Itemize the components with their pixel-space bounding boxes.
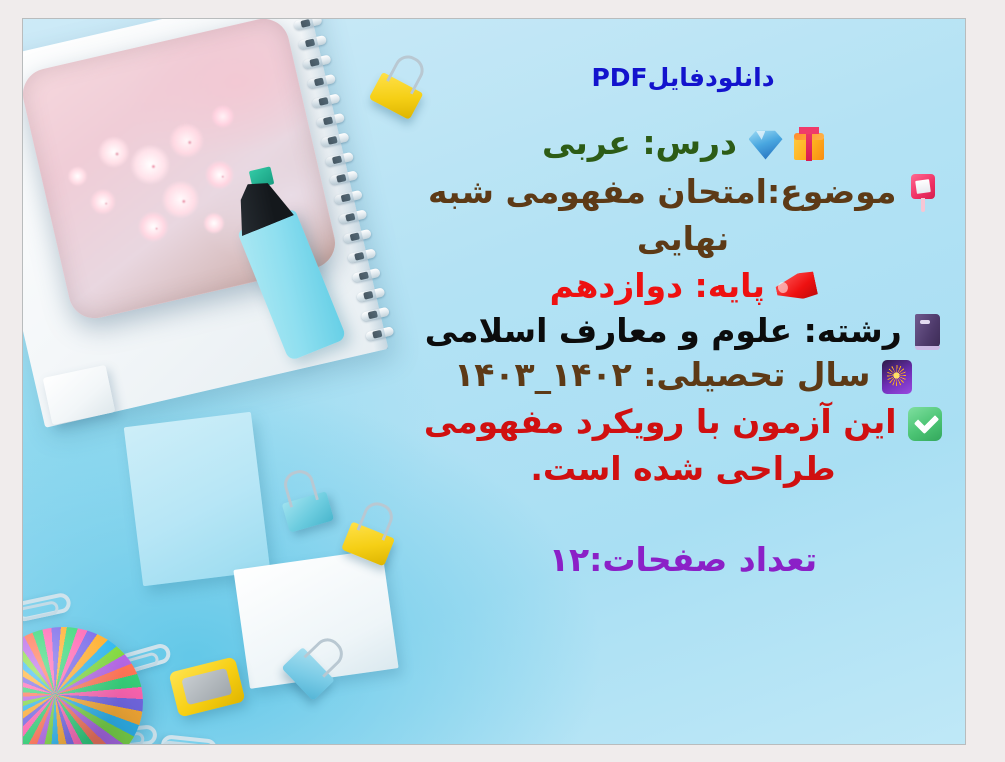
light-blue-paper-square	[124, 412, 271, 586]
slide-canvas: دانلودفایلPDF درس: عربی موضوع:امتحان مفه…	[22, 18, 966, 745]
check-mark-icon	[908, 407, 942, 441]
subject-line-continued: نهایی	[423, 218, 943, 261]
firework-icon	[882, 360, 912, 394]
subject-label-2: نهایی	[637, 219, 729, 258]
field-label: رشته: علوم و معارف اسلامی	[425, 311, 902, 350]
page-root: دانلودفایلPDF درس: عربی موضوع:امتحان مفه…	[0, 0, 1005, 762]
text-column: دانلودفایلPDF درس: عربی موضوع:امتحان مفه…	[423, 63, 943, 584]
note-line: این آزمون با رویکرد مفهومی	[423, 401, 943, 444]
course-line: درس: عربی	[423, 122, 943, 165]
grade-line: پایه: دوازدهم	[423, 265, 943, 308]
subject-label: موضوع:امتحان مفهومی شبه	[428, 172, 896, 211]
field-line: رشته: علوم و معارف اسلامی	[423, 310, 943, 353]
note-line-continued: طراحی شده است.	[423, 448, 943, 491]
gift-icon	[794, 129, 824, 161]
page-count-label: تعداد صفحات:۱۲	[549, 540, 817, 579]
academic-year-line: سال تحصیلی: ۱۴۰۲_۱۴۰۳	[423, 354, 943, 397]
note-label-2: طراحی شده است.	[530, 449, 835, 488]
note-label: این آزمون با رویکرد مفهومی	[424, 402, 897, 441]
page-count-line: تعداد صفحات:۱۲	[423, 539, 943, 582]
book-icon	[913, 314, 941, 350]
grade-label: پایه: دوازدهم	[550, 266, 765, 305]
subject-line: موضوع:امتحان مفهومی شبه	[423, 171, 943, 214]
download-pdf-link[interactable]: دانلودفایلPDF	[423, 63, 943, 92]
postbox-icon	[908, 174, 938, 212]
gem-icon	[749, 130, 783, 160]
course-label: درس: عربی	[542, 123, 737, 162]
megaphone-icon	[776, 274, 816, 300]
academic-year-label: سال تحصیلی: ۱۴۰۲_۱۴۰۳	[454, 355, 870, 394]
